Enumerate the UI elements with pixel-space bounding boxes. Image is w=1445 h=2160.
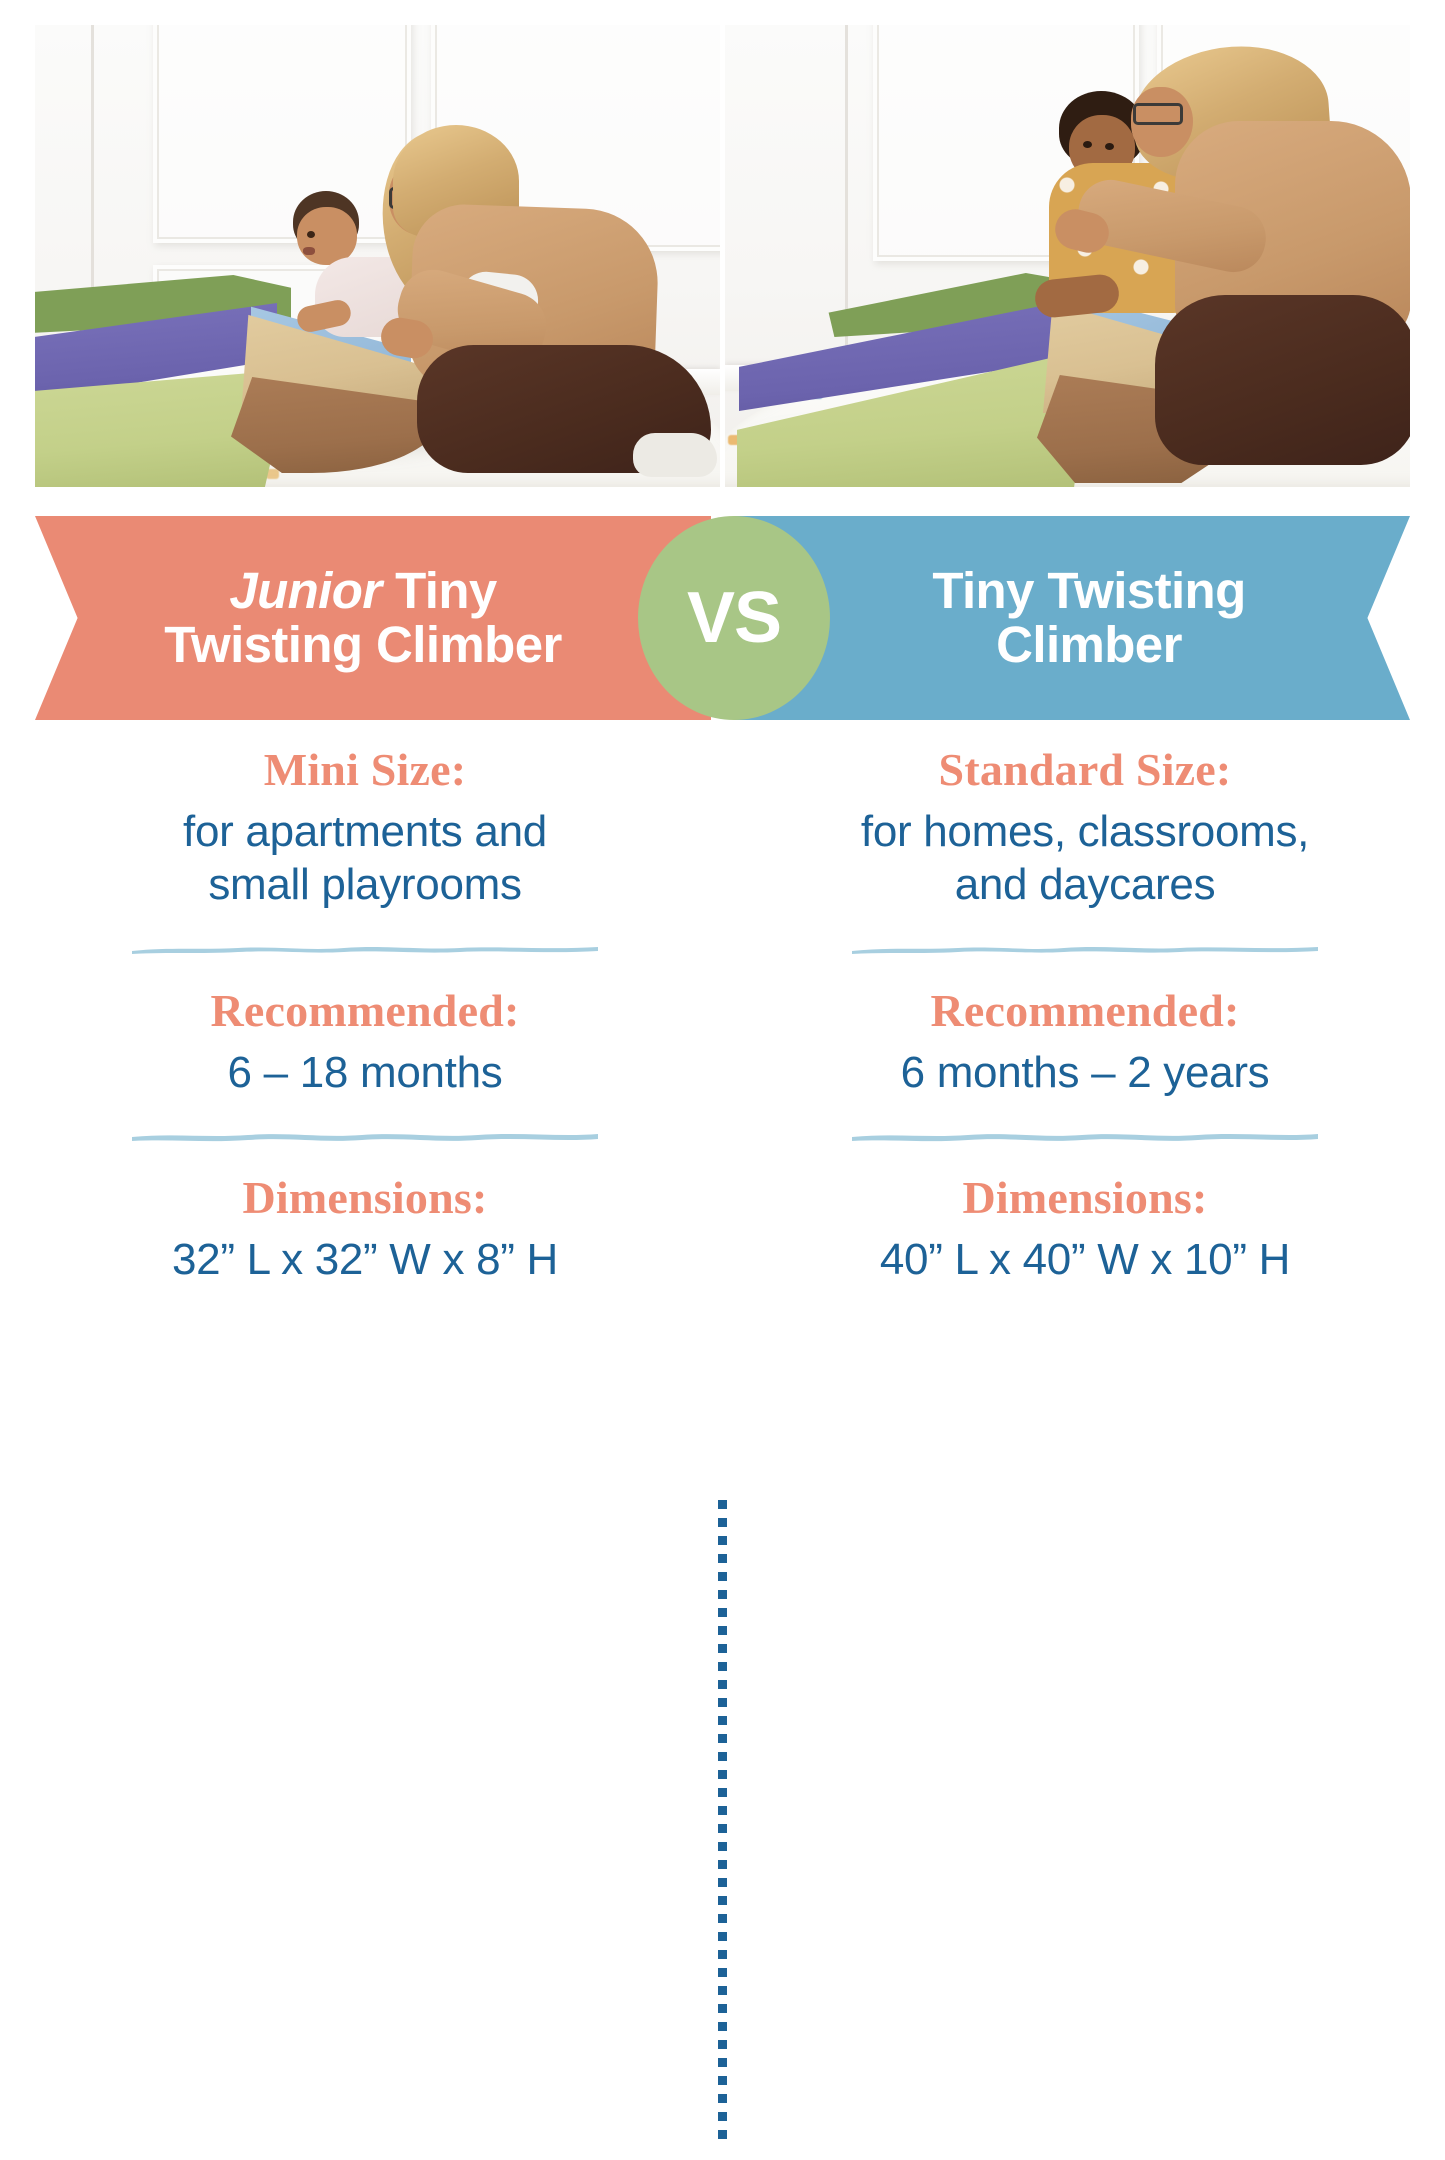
photo-junior-climber bbox=[35, 25, 720, 487]
comparison-section: Mini Size: for apartments andsmall playr… bbox=[0, 745, 1445, 1435]
divider-dot bbox=[718, 1752, 727, 1761]
divider-dot bbox=[718, 2094, 727, 2103]
banner-left-line1: Junior Tiny bbox=[229, 562, 496, 619]
divider-dot bbox=[718, 2058, 727, 2067]
spec-block-recommended: Recommended: 6 months – 2 years bbox=[755, 986, 1415, 1099]
adult-glasses bbox=[1133, 103, 1183, 125]
divider-dot bbox=[718, 1770, 727, 1779]
divider-dot bbox=[718, 1734, 727, 1743]
divider-dot bbox=[718, 1554, 727, 1563]
divider-dot bbox=[718, 2040, 727, 2049]
divider-dot bbox=[718, 1626, 727, 1635]
divider-dot bbox=[718, 1680, 727, 1689]
divider-dot bbox=[718, 1698, 727, 1707]
banner-left-rest: Tiny bbox=[382, 562, 497, 619]
comparison-column-right: Standard Size: for homes, classrooms,and… bbox=[755, 745, 1415, 1287]
banner-right-title: Tiny Twisting Climber bbox=[828, 564, 1315, 672]
adult-shoe bbox=[633, 433, 717, 477]
divider-dot bbox=[718, 1932, 727, 1941]
divider-dot bbox=[718, 1662, 727, 1671]
brush-divider bbox=[130, 1129, 600, 1143]
divider-dot bbox=[718, 1950, 727, 1959]
banner-right-standard: Tiny Twisting Climber bbox=[734, 516, 1410, 720]
banner-left-junior: Junior Tiny Twisting Climber bbox=[35, 516, 711, 720]
photo-standard-climber bbox=[725, 25, 1410, 487]
adult-figure bbox=[383, 103, 720, 487]
versus-banner: Junior Tiny Twisting Climber Tiny Twisti… bbox=[0, 516, 1445, 720]
spec-block-recommended: Recommended: 6 – 18 months bbox=[35, 986, 695, 1099]
divider-dot bbox=[718, 1716, 727, 1725]
divider-dot bbox=[718, 1896, 727, 1905]
brush-divider-icon bbox=[850, 942, 1320, 956]
divider-dot bbox=[718, 1644, 727, 1653]
divider-dot bbox=[718, 1608, 727, 1617]
spec-head-recommended: Recommended: bbox=[755, 986, 1415, 1036]
vertical-dotted-divider bbox=[718, 1500, 728, 2160]
divider-dot bbox=[718, 1572, 727, 1581]
divider-dot bbox=[718, 2004, 727, 2013]
brush-divider-icon bbox=[130, 942, 600, 956]
spec-block-dimensions: Dimensions: 32” L x 32” W x 8” H bbox=[35, 1173, 695, 1286]
divider-dot bbox=[718, 1536, 727, 1545]
spec-block-dimensions: Dimensions: 40” L x 40” W x 10” H bbox=[755, 1173, 1415, 1286]
spec-head-dimensions: Dimensions: bbox=[755, 1173, 1415, 1223]
brush-divider-icon bbox=[130, 1129, 600, 1143]
divider-dot bbox=[718, 2076, 727, 2085]
divider-dot bbox=[718, 1860, 727, 1869]
spec-head-size: Mini Size: bbox=[35, 745, 695, 795]
banner-left-title: Junior Tiny Twisting Climber bbox=[88, 564, 657, 672]
vs-label: VS bbox=[687, 582, 781, 654]
divider-dot bbox=[718, 1986, 727, 1995]
divider-dot bbox=[718, 1500, 727, 1509]
spec-body-size: for apartments andsmall playrooms bbox=[35, 805, 695, 912]
banner-right-line2: Climber bbox=[996, 616, 1182, 673]
divider-dot bbox=[718, 1824, 727, 1833]
spec-head-dimensions: Dimensions: bbox=[35, 1173, 695, 1223]
adult-figure bbox=[1121, 43, 1410, 487]
photo-strip bbox=[35, 25, 1410, 487]
brush-divider bbox=[130, 942, 600, 956]
divider-dot bbox=[718, 2022, 727, 2031]
spec-body-dimensions: 40” L x 40” W x 10” H bbox=[755, 1233, 1415, 1287]
banner-left-line2: Twisting Climber bbox=[164, 616, 561, 673]
adult-pants bbox=[1155, 295, 1410, 465]
divider-dot bbox=[718, 2112, 727, 2121]
divider-dot bbox=[718, 1518, 727, 1527]
spec-head-size: Standard Size: bbox=[755, 745, 1415, 795]
banner-left-emphasis: Junior bbox=[229, 562, 381, 619]
comparison-column-left: Mini Size: for apartments andsmall playr… bbox=[35, 745, 695, 1287]
infographic-page: Junior Tiny Twisting Climber Tiny Twisti… bbox=[0, 0, 1445, 1445]
divider-dot bbox=[718, 1878, 727, 1887]
divider-dot bbox=[718, 1842, 727, 1851]
spec-body-size: for homes, classrooms,and daycares bbox=[755, 805, 1415, 912]
spec-block-size: Standard Size: for homes, classrooms,and… bbox=[755, 745, 1415, 912]
brush-divider-icon bbox=[850, 1129, 1320, 1143]
spec-body-dimensions: 32” L x 32” W x 8” H bbox=[35, 1233, 695, 1287]
divider-dot bbox=[718, 1806, 727, 1815]
spec-head-recommended: Recommended: bbox=[35, 986, 695, 1036]
spec-block-size: Mini Size: for apartments andsmall playr… bbox=[35, 745, 695, 912]
spec-body-recommended: 6 – 18 months bbox=[35, 1046, 695, 1100]
divider-dot bbox=[718, 1590, 727, 1599]
divider-dot bbox=[718, 1788, 727, 1797]
vs-badge: VS bbox=[638, 516, 830, 720]
spec-body-recommended: 6 months – 2 years bbox=[755, 1046, 1415, 1100]
brush-divider bbox=[850, 1129, 1320, 1143]
divider-dot bbox=[718, 1968, 727, 1977]
banner-right-line1: Tiny Twisting bbox=[932, 562, 1245, 619]
brush-divider bbox=[850, 942, 1320, 956]
divider-dot bbox=[718, 1914, 727, 1923]
divider-dot bbox=[718, 2130, 727, 2139]
